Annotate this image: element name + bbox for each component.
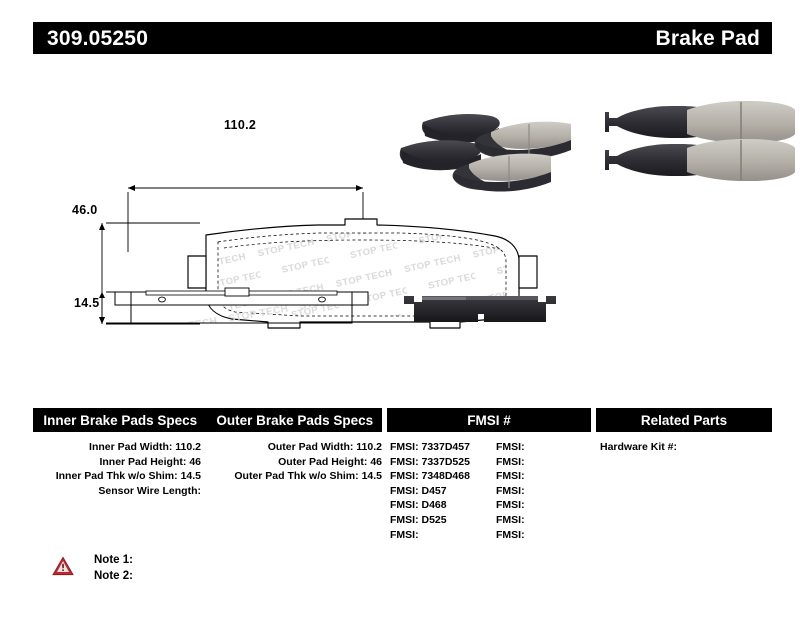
part-number: 309.05250 — [47, 28, 148, 49]
thickness-dimension-label: 14.5 — [74, 296, 100, 310]
spec-row: Hardware Kit #: — [600, 440, 770, 455]
warning-triangle-icon — [52, 556, 74, 576]
spec-label: Outer Pad Thk w/o Shim: — [234, 470, 358, 482]
header-inner-outer: Inner Brake Pads Specs Outer Brake Pads … — [33, 408, 382, 432]
product-photo-angled — [395, 88, 795, 218]
product-type: Brake Pad — [655, 28, 760, 49]
spec-label: Hardware Kit #: — [600, 441, 677, 453]
fmsi-entry: FMSI: — [496, 528, 590, 543]
fmsi-entry: FMSI: 7337D457 — [390, 440, 486, 455]
fmsi-entry: FMSI: — [496, 440, 590, 455]
specification-table: Inner Brake Pads Specs Outer Brake Pads … — [0, 408, 800, 558]
column-header-outer: Outer Brake Pads Specs — [208, 413, 383, 428]
pad-photo-7 — [687, 101, 795, 143]
fmsi-entry: FMSI: D457 — [390, 484, 486, 499]
related-parts-body: Hardware Kit #: — [600, 440, 770, 455]
spec-label: Inner Pad Width: — [89, 441, 172, 453]
spec-row: Outer Pad Height: 46 — [206, 455, 382, 470]
column-header-related: Related Parts — [596, 408, 772, 432]
spec-label: Inner Pad Height: — [99, 456, 186, 468]
fmsi-entry: FMSI: D525 — [390, 513, 486, 528]
column-header-inner: Inner Brake Pads Specs — [33, 413, 208, 428]
fmsi-entry: FMSI: — [390, 528, 486, 543]
spec-label: Sensor Wire Length: — [98, 485, 201, 497]
note-line: Note 1: — [94, 552, 133, 568]
spec-row: Inner Pad Thk w/o Shim: 14.5 — [33, 469, 201, 484]
fmsi-entry: FMSI: 7348D468 — [390, 469, 486, 484]
fmsi-entry: FMSI: — [496, 484, 590, 499]
note-line: Note 2: — [94, 568, 133, 584]
fmsi-entry: FMSI: — [496, 498, 590, 513]
spec-value: 110.2 — [356, 441, 382, 453]
title-bar: 309.05250 Brake Pad — [33, 22, 772, 54]
spec-label: Inner Pad Thk w/o Shim: — [56, 470, 178, 482]
fmsi-entry: FMSI: 7337D525 — [390, 455, 486, 470]
spec-row: Outer Pad Thk w/o Shim: 14.5 — [206, 469, 382, 484]
spec-value: 110.2 — [175, 441, 201, 453]
spec-row: Inner Pad Height: 46 — [33, 455, 201, 470]
spec-value: 14.5 — [362, 470, 382, 482]
spec-value: 46 — [370, 456, 382, 468]
spec-row: Outer Pad Width: 110.2 — [206, 440, 382, 455]
width-dimension-label: 110.2 — [224, 118, 256, 132]
spec-label: Outer Pad Width: — [268, 441, 354, 453]
column-header-fmsi: FMSI # — [387, 408, 591, 432]
fmsi-entry: FMSI: — [496, 469, 590, 484]
spec-label: Outer Pad Height: — [278, 456, 367, 468]
spec-row: Sensor Wire Length: — [33, 484, 201, 499]
spec-row: Inner Pad Width: 110.2 — [33, 440, 201, 455]
height-dimension-label: 46.0 — [72, 203, 98, 217]
notes-section: Note 1: Note 2: — [52, 552, 133, 584]
fmsi-entry: FMSI: — [496, 513, 590, 528]
inner-specs-body: Inner Pad Width: 110.2 Inner Pad Height:… — [33, 440, 201, 498]
spec-value: 46 — [189, 456, 201, 468]
fmsi-entry: FMSI: D468 — [390, 498, 486, 513]
spec-value: 14.5 — [181, 470, 201, 482]
fmsi-body: FMSI: 7337D457 FMSI: FMSI: 7337D525 FMSI… — [390, 440, 590, 542]
note-list: Note 1: Note 2: — [94, 552, 133, 584]
fmsi-entry: FMSI: — [496, 455, 590, 470]
pad-photo-8 — [687, 139, 795, 181]
outer-specs-body: Outer Pad Width: 110.2 Outer Pad Height:… — [206, 440, 382, 484]
drawing-area: STOP TECH STOP TECH STOP TECH — [0, 60, 800, 390]
product-photo-edge — [400, 280, 560, 336]
